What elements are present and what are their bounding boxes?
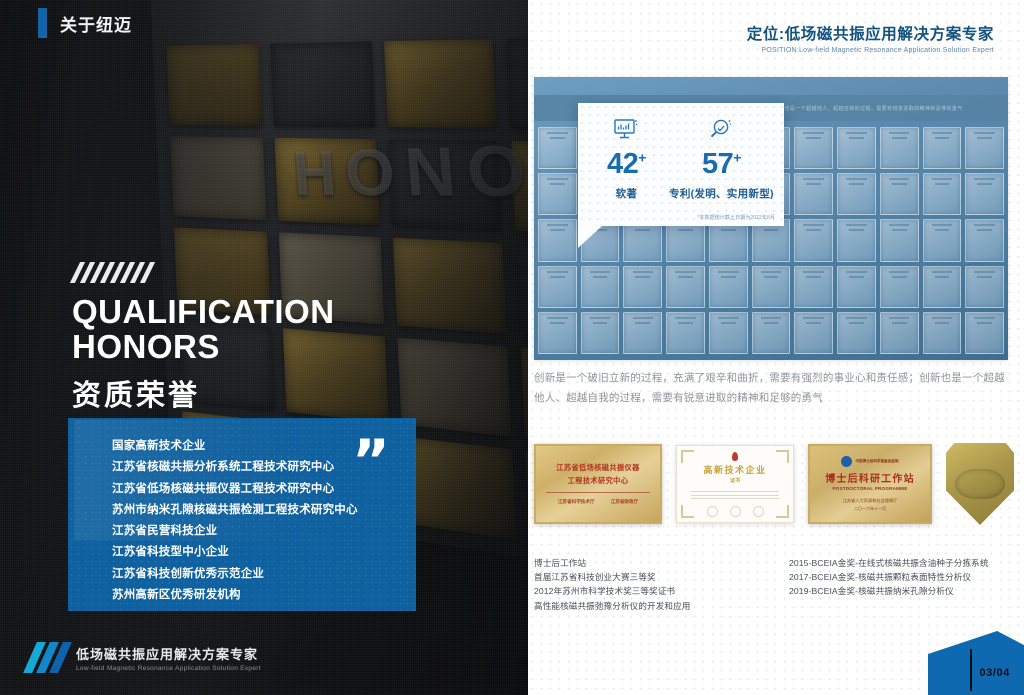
award-shield-icon [946,443,1014,525]
header-accent-bar [38,8,47,38]
position-title-cn: 定位:低场磁共振应用解决方案专家 [747,22,994,44]
list-item: 高性能核磁共振弛豫分析仪的开发和应用 [534,599,765,613]
stat-software-value: 42+ [586,150,667,179]
plaque-gold: 江苏省低场核磁共振仪器 工程技术研究中心 江苏省科学技术厅 江苏省财政厅 [534,444,662,524]
awards-columns: 博士后工作站 首届江苏省科技创业大赛三等奖 2012年苏州市科学技术奖三等奖证书… [534,556,1020,613]
stat-software-label: 软著 [586,186,667,201]
postdoc-date: 二〇一六年十一月 [854,506,886,512]
page-corner-shape [928,631,1024,695]
list-item: 苏州市纳米孔隙核磁共振检测工程技术研究中心 [112,500,416,521]
flame-icon [732,452,738,461]
plaque-gold-line1: 江苏省低场核磁共振仪器 [556,463,639,473]
plaque-postdoctoral: 中国博士后科学基金会监制 博士后科研工作站 POSTDOCTORAL PROGR… [808,444,932,524]
list-item: 江苏省民营科技企业 [112,521,416,542]
plaque-row: 江苏省低场核磁共振仪器 工程技术研究中心 江苏省科学技术厅 江苏省财政厅 高新技… [534,432,1020,536]
footer-brand: 低场磁共振应用解决方案专家 Low-field Magnetic Resonan… [30,642,261,673]
list-item: 2017-BCEIA金奖-核磁共振颗粒表面特性分析仪 [789,570,1020,584]
plaque-certificate: 高新技术企业 证书 [676,445,794,523]
slide-page: HONOR 关于纽迈 QUALIFICATION HONORS 资质荣誉 ” 国… [0,0,1024,695]
qualification-list-box: ” 国家高新技术企业 江苏省核磁共振分析系统工程技术研究中心 江苏省低场核磁共振… [68,418,416,611]
list-item: 2015-BCEIA金奖-在线式核磁共振含油种子分拣系统 [789,556,1020,570]
list-item: 博士后工作站 [534,556,765,570]
page-number-tick [970,649,972,691]
stat-patent: 57+ 专利(发明、实用新型) [667,115,776,226]
page-title: QUALIFICATION HONORS 资质荣誉 [72,262,335,414]
list-item: 江苏省科技创新优秀示范企业 [112,564,416,585]
title-en-line1: QUALIFICATION [72,295,335,330]
postdoc-logo-icon [841,456,852,467]
monitor-chart-icon [586,115,667,145]
statistics-card: 42+ 软著 57+ [578,103,784,226]
qualification-list: 国家高新技术企业 江苏省核磁共振分析系统工程技术研究中心 江苏省低场核磁共振仪器… [68,418,416,606]
certificate-subtitle: 证书 [730,477,740,484]
header-tag: 关于纽迈 [38,8,132,38]
footer-tagline-en: Low-field Magnetic Resonance Application… [76,665,261,672]
footer-bars-icon [30,642,65,673]
list-item: 江苏省科技型中小企业 [112,542,416,563]
plaque-gold-issuer-right: 江苏省财政厅 [611,499,639,505]
position-title-en: POSITION:Low-field Magnetic Resonance Ap… [747,47,994,54]
certificate-title: 高新技术企业 [703,463,766,476]
list-item: 首届江苏省科技创业大赛三等奖 [534,570,765,584]
page-number: 03/04 [979,667,1010,679]
certificate-seals [707,506,764,517]
list-item: 2019-BCEIA金奖-核磁共振纳米孔隙分析仪 [789,584,1020,598]
stat-patent-label: 专利(发明、实用新型) [667,186,776,201]
list-item: 江苏省核磁共振分析系统工程技术研究中心 [112,457,416,478]
position-heading: 定位:低场磁共振应用解决方案专家 POSITION:Low-field Magn… [747,22,994,54]
footer-tagline-cn: 低场磁共振应用解决方案专家 [76,644,261,663]
postdoc-title: 博士后科研工作站 [825,470,915,485]
postdoc-title-en: POSTDOCTORAL PROGRAMME [833,486,908,491]
list-item: 2012年苏州市科学技术奖三等奖证书 [534,584,765,598]
description-paragraph: 创新是一个破旧立新的过程，充满了艰辛和曲折，需要有强烈的事业心和责任感；创新也是… [534,368,1008,408]
list-item: 苏州高新区优秀研发机构 [112,585,416,606]
header-tag-label: 关于纽迈 [60,11,132,36]
postdoc-issuer: 江苏省人力资源和社会保障厅 [843,498,897,504]
awards-right-column: 2015-BCEIA金奖-在线式核磁共振含油种子分拣系统 2017-BCEIA金… [789,556,1020,613]
awards-left-column: 博士后工作站 首届江苏省科技创业大赛三等奖 2012年苏州市科学技术奖三等奖证书… [534,556,765,613]
list-item: 江苏省低场核磁共振仪器工程技术研究中心 [112,479,416,500]
plaque-gold-line2: 工程技术研究中心 [568,476,629,486]
slash-decoration [75,262,335,283]
certificate-wall-photo: 创新是一个破旧立新的过程，充满了艰辛和曲折，需要有强烈的事业心和责任感；创新也是… [534,77,1008,360]
stat-software: 42+ 软著 [586,115,667,226]
list-item: 国家高新技术企业 [112,436,416,457]
stat-footnote: *本数据统计截止日期为2022年8月 [697,214,775,221]
right-content-panel: 定位:低场磁共振应用解决方案专家 POSITION:Low-field Magn… [528,0,1024,695]
postdoc-logo-text: 中国博士后科学基金会监制 [855,459,898,464]
left-dark-panel: HONOR 关于纽迈 QUALIFICATION HONORS 资质荣誉 ” 国… [0,0,528,695]
stat-patent-value: 57+ [667,150,776,179]
plaque-gold-issuer-left: 江苏省科学技术厅 [558,499,595,505]
title-en-line2: HONORS [72,330,335,365]
magnifier-icon [667,115,776,145]
title-cn: 资质荣誉 [72,372,335,414]
